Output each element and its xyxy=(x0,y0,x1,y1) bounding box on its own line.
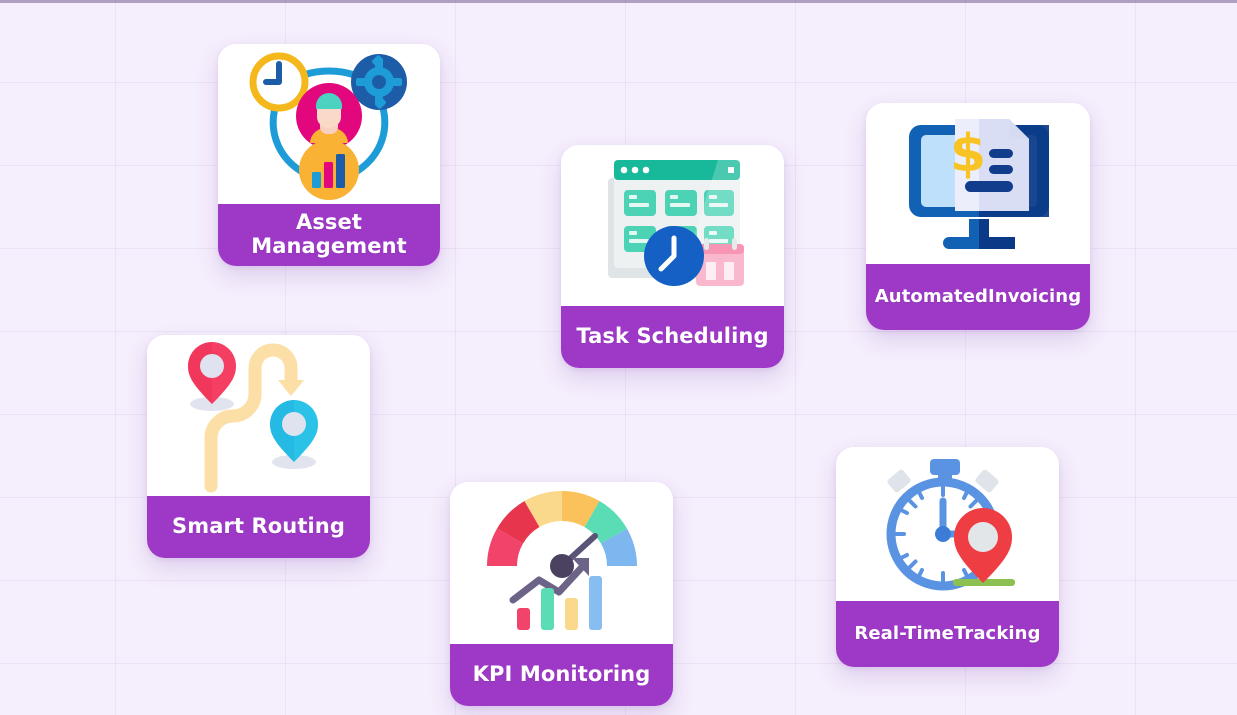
card-automated-invoicing[interactable]: $ Automated Invoicing xyxy=(866,103,1090,330)
card-kpi-monitoring[interactable]: KPI Monitoring xyxy=(450,482,673,706)
card-label-line-2: Tracking xyxy=(954,624,1041,644)
card-label-kpi-monitoring: KPI Monitoring xyxy=(450,644,673,706)
feature-card-board: Asset Management xyxy=(0,0,1237,715)
card-label-text: KPI Monitoring xyxy=(473,663,651,687)
kpi-monitoring-icon xyxy=(477,488,647,638)
card-label-line-1: Automated xyxy=(875,287,988,307)
card-label-task-scheduling: Task Scheduling xyxy=(561,306,784,368)
card-task-scheduling[interactable]: Task Scheduling xyxy=(561,145,784,368)
card-label-text: Smart Routing xyxy=(172,515,345,539)
task-scheduling-icon xyxy=(588,148,758,303)
real-time-tracking-icon xyxy=(865,449,1030,599)
svg-text:$: $ xyxy=(949,124,985,184)
card-asset-management[interactable]: Asset Management xyxy=(218,44,440,266)
automated-invoicing-art: $ xyxy=(866,103,1090,264)
smart-routing-icon xyxy=(174,338,344,493)
card-label-real-time-tracking: Real-Time Tracking xyxy=(836,601,1059,667)
card-label-smart-routing: Smart Routing xyxy=(147,496,370,558)
card-label-automated-invoicing: Automated Invoicing xyxy=(866,264,1090,330)
kpi-monitoring-art xyxy=(450,482,673,644)
card-label-line-1: Real-Time xyxy=(854,624,954,644)
card-label-line-2: Invoicing xyxy=(988,287,1081,307)
smart-routing-art xyxy=(147,335,370,496)
card-real-time-tracking[interactable]: Real-Time Tracking xyxy=(836,447,1059,667)
asset-management-art xyxy=(218,44,440,204)
card-smart-routing[interactable]: Smart Routing xyxy=(147,335,370,558)
card-label-asset-management: Asset Management xyxy=(218,204,440,266)
real-time-tracking-art xyxy=(836,447,1059,601)
card-label-text: Asset Management xyxy=(224,211,434,258)
asset-management-icon xyxy=(239,44,419,204)
card-label-text: Task Scheduling xyxy=(576,325,768,349)
task-scheduling-art xyxy=(561,145,784,306)
automated-invoicing-icon: $ xyxy=(891,109,1066,259)
